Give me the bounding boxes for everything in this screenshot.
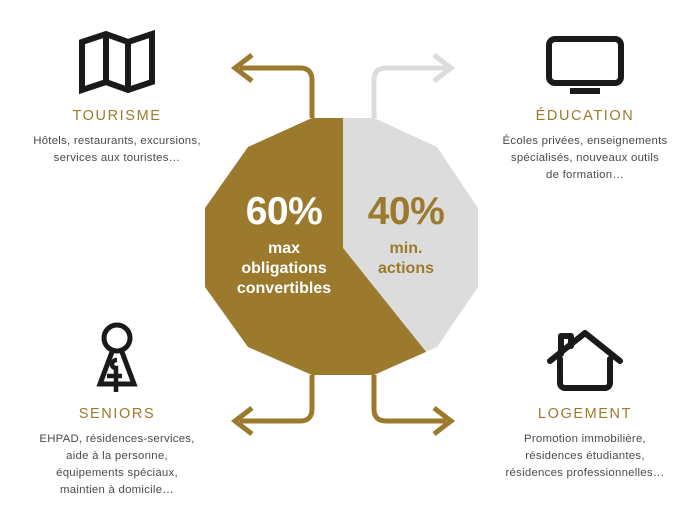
infographic-root: 60% max obligations convertibles 40% min… [0, 0, 700, 507]
house-icon [470, 322, 700, 394]
desc-line: résidences étudiantes, [484, 448, 686, 465]
desc-line: EHPAD, résidences-services, [16, 431, 218, 448]
arrow-bottom-left [235, 375, 312, 434]
category-desc-logement: Promotion immobilière, résidences étudia… [470, 431, 700, 482]
right-caption-line-2: actions [352, 259, 460, 279]
arrow-top-left [235, 55, 312, 118]
arrow-bottom-right [374, 375, 451, 434]
desc-line: Hôtels, restaurants, excursions, [16, 133, 218, 150]
desc-line: aide à la personne, [16, 448, 218, 465]
right-caption-line-1: min. [352, 239, 460, 259]
desc-line: spécialisés, nouveaux outils [484, 150, 686, 167]
desc-line: équipements spéciaux, [16, 465, 218, 482]
category-title-education: ÉDUCATION [470, 108, 700, 124]
arrow-top-right [374, 55, 451, 118]
left-caption-line-3: convertibles [222, 279, 346, 299]
desc-line: Écoles privées, enseignements [484, 133, 686, 150]
percent-60: 60% [222, 192, 346, 231]
category-education: ÉDUCATION Écoles privées, enseignements … [470, 24, 700, 184]
desc-line: Promotion immobilière, [484, 431, 686, 448]
percent-40: 40% [352, 192, 460, 231]
desc-line: services aux touristes… [16, 150, 218, 167]
category-title-seniors: SENIORS [2, 406, 232, 422]
desc-line: de formation… [484, 167, 686, 184]
center-right-label: 40% min. actions [352, 192, 460, 279]
left-segment-caption: max obligations convertibles [222, 239, 346, 299]
desc-line: résidences professionnelles… [484, 465, 686, 482]
category-title-logement: LOGEMENT [470, 406, 700, 422]
center-left-label: 60% max obligations convertibles [222, 192, 346, 299]
category-title-tourisme: TOURISME [2, 108, 232, 124]
category-desc-seniors: EHPAD, résidences-services, aide à la pe… [2, 431, 232, 499]
category-desc-tourisme: Hôtels, restaurants, excursions, service… [2, 133, 232, 167]
left-caption-line-1: max [222, 239, 346, 259]
left-caption-line-2: obligations [222, 259, 346, 279]
category-logement: LOGEMENT Promotion immobilière, résidenc… [470, 322, 700, 482]
right-segment-caption: min. actions [352, 239, 460, 279]
category-tourisme: TOURISME Hôtels, restaurants, excursions… [2, 24, 232, 167]
monitor-icon [470, 24, 700, 96]
desc-line: maintien à domicile… [16, 482, 218, 499]
category-desc-education: Écoles privées, enseignements spécialisé… [470, 133, 700, 184]
senior-person-icon [2, 322, 232, 394]
map-icon [2, 24, 232, 96]
category-seniors: SENIORS EHPAD, résidences-services, aide… [2, 322, 232, 499]
